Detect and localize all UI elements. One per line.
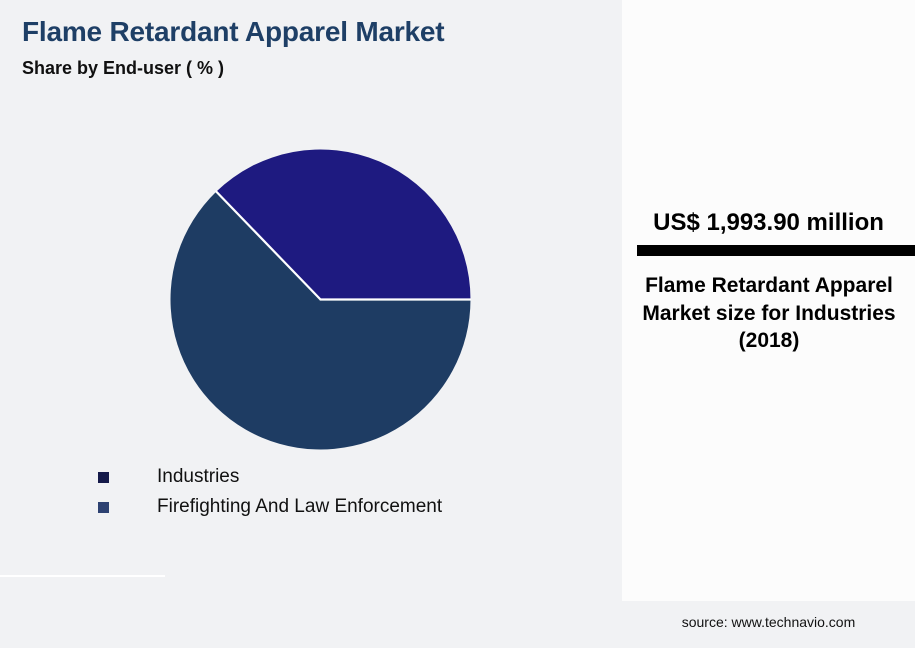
kpi-value: US$ 1,993.90 million: [622, 209, 915, 237]
kpi-panel: US$ 1,993.90 million Flame Retardant App…: [622, 0, 915, 601]
kpi-caption: Flame Retardant Apparel Market size for …: [640, 272, 898, 355]
kpi-divider: [637, 245, 915, 256]
footer-divider: [0, 575, 165, 577]
legend-swatch-icon: [98, 472, 109, 483]
source-note: source: www.technavio.com: [622, 614, 915, 630]
page-title: Flame Retardant Apparel Market: [22, 16, 444, 48]
legend-item-label: Industries: [157, 466, 239, 488]
legend-item-label: Firefighting And Law Enforcement: [157, 496, 442, 518]
chart-panel: Flame Retardant Apparel Market Share by …: [0, 0, 620, 648]
legend-swatch-icon: [98, 502, 109, 513]
legend-item-industries[interactable]: Industries: [98, 462, 598, 492]
legend-item-firefighting[interactable]: Firefighting And Law Enforcement: [98, 492, 598, 522]
chart-subtitle: Share by End-user ( % ): [22, 58, 224, 79]
pie-chart-svg: [170, 149, 471, 450]
chart-legend: Industries Firefighting And Law Enforcem…: [98, 462, 598, 522]
pie-chart: [170, 149, 471, 450]
